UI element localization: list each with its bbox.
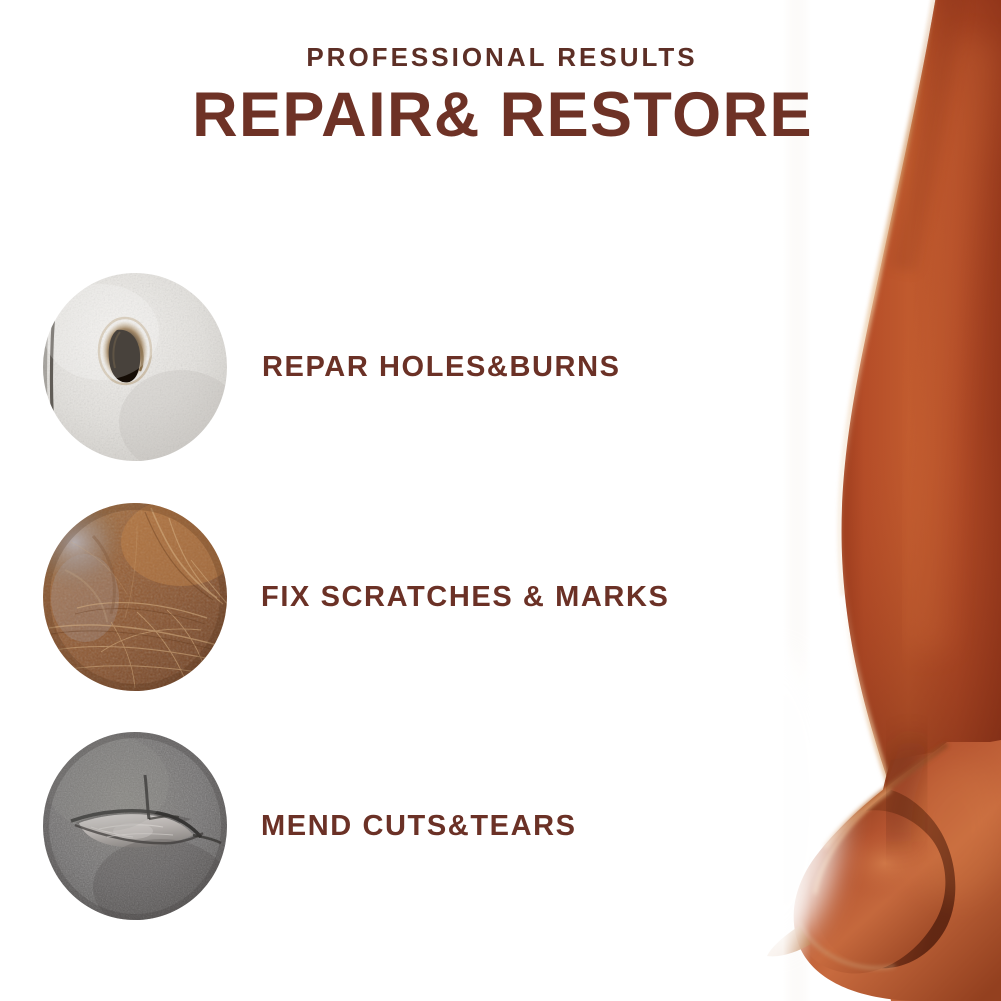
feature-row: FIX SCRATCHES & MARKS [0, 502, 800, 692]
page-title: REPAIR& RESTORE [0, 84, 1001, 147]
leather-coil-shape [767, 740, 1001, 1001]
feature-label: MEND CUTS&TEARS [261, 810, 577, 843]
eyebrow-text: PROFESSIONAL RESULTS [0, 44, 1001, 70]
feature-label: FIX SCRATCHES & MARKS [261, 581, 669, 614]
feature-row: MEND CUTS&TEARS [0, 731, 800, 921]
leather-cut-tear-photo [41, 731, 229, 921]
feature-row: REPAR HOLES&BURNS [0, 272, 800, 462]
leather-burn-hole-photo [41, 272, 229, 462]
product-feature-banner: PROFESSIONAL RESULTS REPAIR& RESTORE [0, 0, 1001, 1001]
header: PROFESSIONAL RESULTS REPAIR& RESTORE [0, 44, 1001, 147]
leather-scratches-photo [41, 502, 229, 692]
feature-label: REPAR HOLES&BURNS [262, 351, 621, 384]
